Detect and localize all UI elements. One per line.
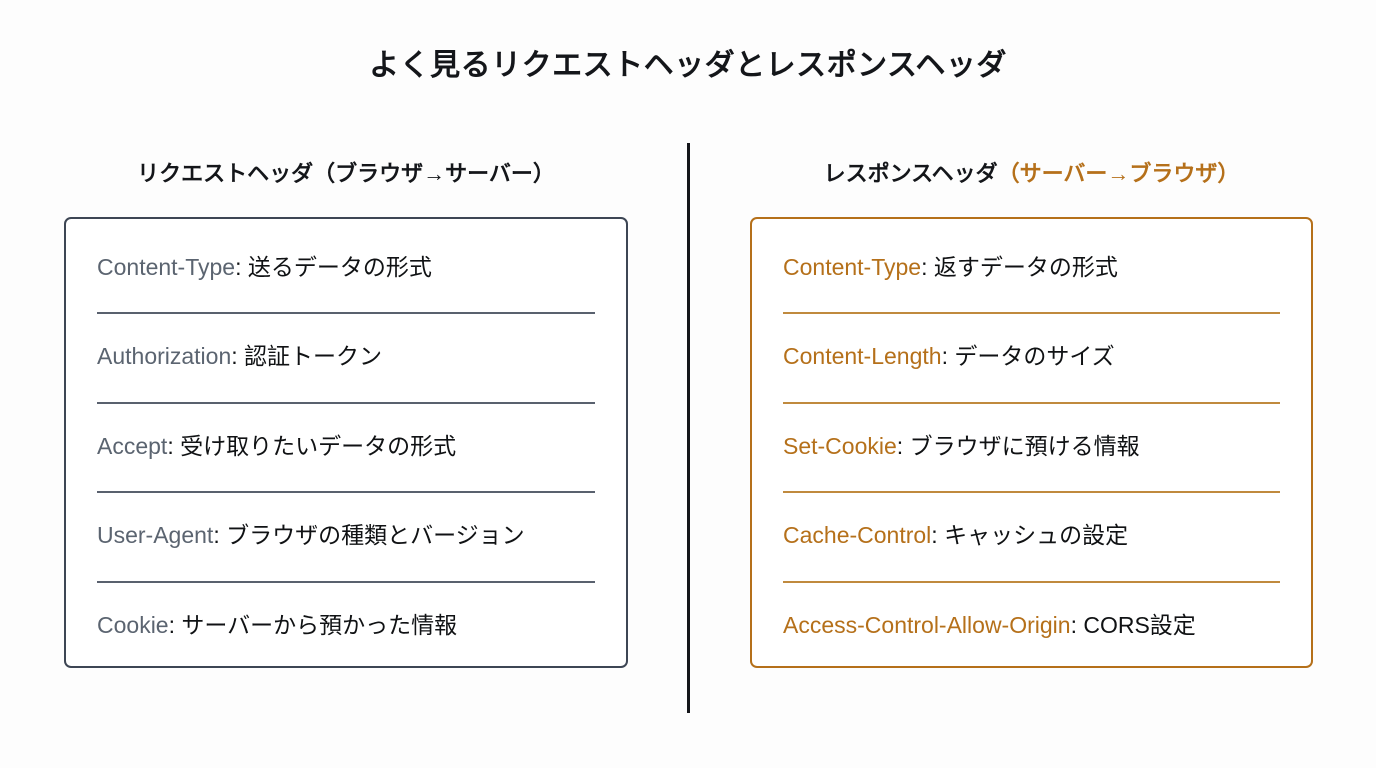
response-header-column: レスポンスヘッダ（サーバー→ブラウザ） Content-Type: 返すデータの…: [750, 160, 1313, 668]
request-heading-direction: （ブラウザ→サーバー）: [313, 161, 555, 186]
header-description: 認証トークン: [244, 343, 382, 369]
list-item[interactable]: Cookie: サーバーから預かった情報: [66, 581, 626, 671]
header-description: ブラウザの種類とバージョン: [226, 522, 525, 548]
header-name: Cookie: [97, 612, 169, 638]
request-row-1: Authorization: 認証トークン: [97, 341, 382, 372]
response-row-4: Access-Control-Allow-Origin: CORS設定: [783, 610, 1196, 641]
header-name: Content-Length: [783, 343, 942, 369]
header-description: サーバーから預かった情報: [181, 612, 457, 638]
header-separator: :: [942, 343, 955, 369]
request-header-column: リクエストヘッダ（ブラウザ→サーバー） Content-Type: 送るデータの…: [64, 160, 628, 668]
header-name: Content-Type: [783, 254, 921, 280]
header-name: Content-Type: [97, 254, 235, 280]
header-separator: :: [169, 612, 182, 638]
header-description: キャッシュの設定: [944, 522, 1128, 548]
list-item[interactable]: Content-Length: データのサイズ: [752, 312, 1311, 402]
list-item[interactable]: Cache-Control: キャッシュの設定: [752, 491, 1311, 581]
request-heading-main: リクエストヘッダ: [137, 161, 313, 186]
header-description: 受け取りたいデータの形式: [180, 433, 456, 459]
header-separator: :: [235, 254, 248, 280]
page-title: よく見るリクエストヘッダとレスポンスヘッダ: [0, 46, 1376, 85]
request-row-3: User-Agent: ブラウザの種類とバージョン: [97, 520, 525, 551]
response-header-list: Content-Type: 返すデータの形式 Content-Length: デ…: [750, 217, 1313, 668]
header-name: Access-Control-Allow-Origin: [783, 612, 1071, 638]
header-name: Accept: [97, 433, 167, 459]
header-separator: :: [897, 433, 910, 459]
request-row-2: Accept: 受け取りたいデータの形式: [97, 431, 456, 462]
header-separator: :: [931, 522, 944, 548]
request-row-0: Content-Type: 送るデータの形式: [97, 252, 432, 283]
response-row-3: Cache-Control: キャッシュの設定: [783, 520, 1128, 551]
slide-canvas: よく見るリクエストヘッダとレスポンスヘッダ リクエストヘッダ（ブラウザ→サーバー…: [0, 0, 1376, 768]
response-row-1: Content-Length: データのサイズ: [783, 341, 1115, 372]
header-description: データのサイズ: [954, 343, 1114, 369]
column-divider: [687, 143, 690, 713]
header-description: ブラウザに預ける情報: [910, 433, 1140, 459]
header-separator: :: [921, 254, 934, 280]
list-item[interactable]: Content-Type: 送るデータの形式: [66, 223, 626, 313]
header-description: CORS設定: [1083, 612, 1195, 638]
list-item[interactable]: Accept: 受け取りたいデータの形式: [66, 402, 626, 492]
header-separator: :: [231, 343, 244, 369]
response-row-2: Set-Cookie: ブラウザに預ける情報: [783, 431, 1140, 462]
response-heading-main: レスポンスヘッダ: [824, 161, 998, 186]
list-item[interactable]: Access-Control-Allow-Origin: CORS設定: [752, 581, 1311, 671]
list-item[interactable]: Authorization: 認証トークン: [66, 312, 626, 402]
header-description: 返すデータの形式: [934, 254, 1118, 280]
header-name: Authorization: [97, 343, 231, 369]
header-description: 送るデータの形式: [248, 254, 432, 280]
list-item[interactable]: User-Agent: ブラウザの種類とバージョン: [66, 491, 626, 581]
header-separator: :: [213, 522, 226, 548]
list-item[interactable]: Content-Type: 返すデータの形式: [752, 223, 1311, 313]
response-heading-direction: （サーバー→ブラウザ）: [998, 161, 1240, 186]
header-separator: :: [1071, 612, 1084, 638]
header-name: Cache-Control: [783, 522, 931, 548]
list-item[interactable]: Set-Cookie: ブラウザに預ける情報: [752, 402, 1311, 492]
response-column-heading: レスポンスヘッダ（サーバー→ブラウザ）: [750, 160, 1313, 189]
header-separator: :: [167, 433, 180, 459]
header-name: User-Agent: [97, 522, 213, 548]
request-column-heading: リクエストヘッダ（ブラウザ→サーバー）: [64, 160, 628, 189]
header-name: Set-Cookie: [783, 433, 897, 459]
response-row-0: Content-Type: 返すデータの形式: [783, 252, 1118, 283]
request-header-list: Content-Type: 送るデータの形式 Authorization: 認証…: [64, 217, 628, 668]
request-row-4: Cookie: サーバーから預かった情報: [97, 610, 457, 641]
